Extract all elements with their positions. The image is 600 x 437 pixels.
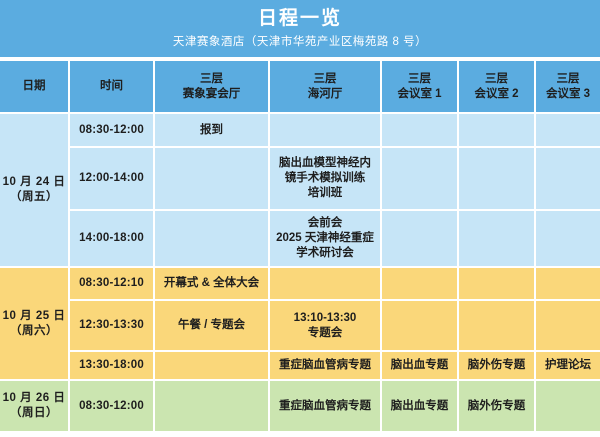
session-cell-room1[interactable]: 脑出血专题	[382, 352, 459, 381]
session-cell-haihe	[270, 114, 382, 148]
date-line: 10 月 26 日	[2, 391, 66, 406]
event-line: 护理论坛	[538, 358, 598, 373]
event-line: 专题会	[272, 326, 378, 341]
event-line: 午餐 / 专题会	[157, 318, 266, 333]
date-line: （周日）	[2, 406, 66, 421]
session-cell-room1	[382, 148, 459, 211]
schedule-page: 日程一览 天津赛象酒店（天津市华苑产业区梅苑路 8 号） 日期时间三层赛象宴会厅…	[0, 0, 600, 437]
event-line: 脑外伤专题	[461, 358, 532, 373]
time-cell: 08:30-12:00	[70, 381, 155, 433]
session-cell-room1	[382, 268, 459, 301]
session-cell-banquet	[155, 352, 270, 381]
session-cell-banquet	[155, 211, 270, 268]
date-line: （周六）	[2, 324, 66, 339]
date-cell: 10 月 25 日（周六）	[0, 268, 70, 381]
session-cell-room1	[382, 211, 459, 268]
session-cell-room2	[459, 148, 536, 211]
session-cell-room1	[382, 301, 459, 352]
date-line: （周五）	[2, 190, 66, 205]
session-cell-room2	[459, 114, 536, 148]
column-header-line2: 赛象宴会厅	[157, 87, 266, 102]
column-header-7: 三层会议室 3	[536, 61, 600, 114]
venue-subtitle: 天津赛象酒店（天津市华苑产业区梅苑路 8 号）	[173, 33, 427, 51]
event-line: 脑出血专题	[384, 399, 455, 414]
column-header-line2: 海河厅	[272, 87, 378, 102]
session-cell-room2	[459, 301, 536, 352]
session-cell-room2[interactable]: 脑外伤专题	[459, 352, 536, 381]
session-cell-room2	[459, 211, 536, 268]
session-cell-banquet[interactable]: 开幕式 & 全体大会	[155, 268, 270, 301]
header-row: 日期时间三层赛象宴会厅三层海河厅三层会议室 1三层会议室 2三层会议室 3	[0, 61, 600, 114]
session-cell-room1	[382, 114, 459, 148]
date-line: 10 月 24 日	[2, 175, 66, 190]
session-cell-room2	[459, 268, 536, 301]
date-cell: 10 月 24 日（周五）	[0, 114, 70, 268]
time-cell: 13:30-18:00	[70, 352, 155, 381]
time-cell: 08:30-12:10	[70, 268, 155, 301]
column-header-line1: 三层	[538, 72, 598, 87]
session-cell-haihe	[270, 268, 382, 301]
table-row: 13:30-18:00重症脑血管病专题脑出血专题脑外伤专题护理论坛	[0, 352, 600, 381]
session-cell-banquet	[155, 148, 270, 211]
column-header-line2: 会议室 1	[384, 87, 455, 102]
event-line: 报到	[157, 123, 266, 138]
session-cell-banquet[interactable]: 报到	[155, 114, 270, 148]
column-header-5: 三层会议室 1	[382, 61, 459, 114]
session-cell-room3	[536, 148, 600, 211]
time-cell: 12:30-13:30	[70, 301, 155, 352]
session-cell-room3	[536, 211, 600, 268]
column-header-line1: 三层	[157, 72, 266, 87]
session-cell-haihe[interactable]: 重症脑血管病专题	[270, 352, 382, 381]
column-header-line1: 三层	[272, 72, 378, 87]
event-line: 培训班	[272, 186, 378, 201]
schedule-table: 日期时间三层赛象宴会厅三层海河厅三层会议室 1三层会议室 2三层会议室 3 10…	[0, 61, 600, 433]
column-header-1: 日期	[0, 61, 70, 114]
column-header-line1: 三层	[384, 72, 455, 87]
session-cell-room2[interactable]: 脑外伤专题	[459, 381, 536, 433]
time-cell: 12:00-14:00	[70, 148, 155, 211]
event-line: 脑出血模型神经内	[272, 156, 378, 171]
column-header-4: 三层海河厅	[270, 61, 382, 114]
column-header-2: 时间	[70, 61, 155, 114]
column-header-line1: 三层	[461, 72, 532, 87]
session-cell-room3	[536, 381, 600, 433]
event-line: 重症脑血管病专题	[272, 399, 378, 414]
event-line: 镜手术模拟训练	[272, 171, 378, 186]
table-row: 10 月 25 日（周六）08:30-12:10开幕式 & 全体大会	[0, 268, 600, 301]
session-cell-banquet	[155, 381, 270, 433]
column-header-3: 三层赛象宴会厅	[155, 61, 270, 114]
session-cell-haihe[interactable]: 脑出血模型神经内镜手术模拟训练培训班	[270, 148, 382, 211]
table-body: 10 月 24 日（周五）08:30-12:00报到12:00-14:00脑出血…	[0, 114, 600, 433]
event-line: 13:10-13:30	[272, 311, 378, 326]
column-header-6: 三层会议室 2	[459, 61, 536, 114]
column-header-line2: 会议室 2	[461, 87, 532, 102]
table-row: 14:00-18:00会前会2025 天津神经重症学术研讨会	[0, 211, 600, 268]
column-header-line2: 会议室 3	[538, 87, 598, 102]
session-cell-haihe[interactable]: 会前会2025 天津神经重症学术研讨会	[270, 211, 382, 268]
title-band: 日程一览 天津赛象酒店（天津市华苑产业区梅苑路 8 号）	[0, 0, 600, 57]
table-row: 12:30-13:30午餐 / 专题会13:10-13:30专题会	[0, 301, 600, 352]
event-line: 2025 天津神经重症	[272, 231, 378, 246]
time-cell: 08:30-12:00	[70, 114, 155, 148]
session-cell-room3	[536, 268, 600, 301]
event-line: 开幕式 & 全体大会	[157, 276, 266, 291]
session-cell-banquet[interactable]: 午餐 / 专题会	[155, 301, 270, 352]
column-header-line1: 时间	[72, 79, 151, 94]
table-header: 日期时间三层赛象宴会厅三层海河厅三层会议室 1三层会议室 2三层会议室 3	[0, 61, 600, 114]
table-row: 12:00-14:00脑出血模型神经内镜手术模拟训练培训班	[0, 148, 600, 211]
event-line: 脑出血专题	[384, 358, 455, 373]
time-cell: 14:00-18:00	[70, 211, 155, 268]
session-cell-room3	[536, 301, 600, 352]
event-line: 重症脑血管病专题	[272, 358, 378, 373]
event-line: 脑外伤专题	[461, 399, 532, 414]
date-cell: 10 月 26 日（周日）	[0, 381, 70, 433]
session-cell-room3	[536, 114, 600, 148]
date-line: 10 月 25 日	[2, 309, 66, 324]
session-cell-haihe[interactable]: 13:10-13:30专题会	[270, 301, 382, 352]
column-header-line1: 日期	[2, 79, 66, 94]
event-line: 会前会	[272, 216, 378, 231]
session-cell-haihe[interactable]: 重症脑血管病专题	[270, 381, 382, 433]
page-title: 日程一览	[258, 7, 342, 31]
session-cell-room1[interactable]: 脑出血专题	[382, 381, 459, 433]
table-row: 10 月 24 日（周五）08:30-12:00报到	[0, 114, 600, 148]
event-line: 学术研讨会	[272, 246, 378, 261]
session-cell-room3[interactable]: 护理论坛	[536, 352, 600, 381]
table-row: 10 月 26 日（周日）08:30-12:00重症脑血管病专题脑出血专题脑外伤…	[0, 381, 600, 433]
